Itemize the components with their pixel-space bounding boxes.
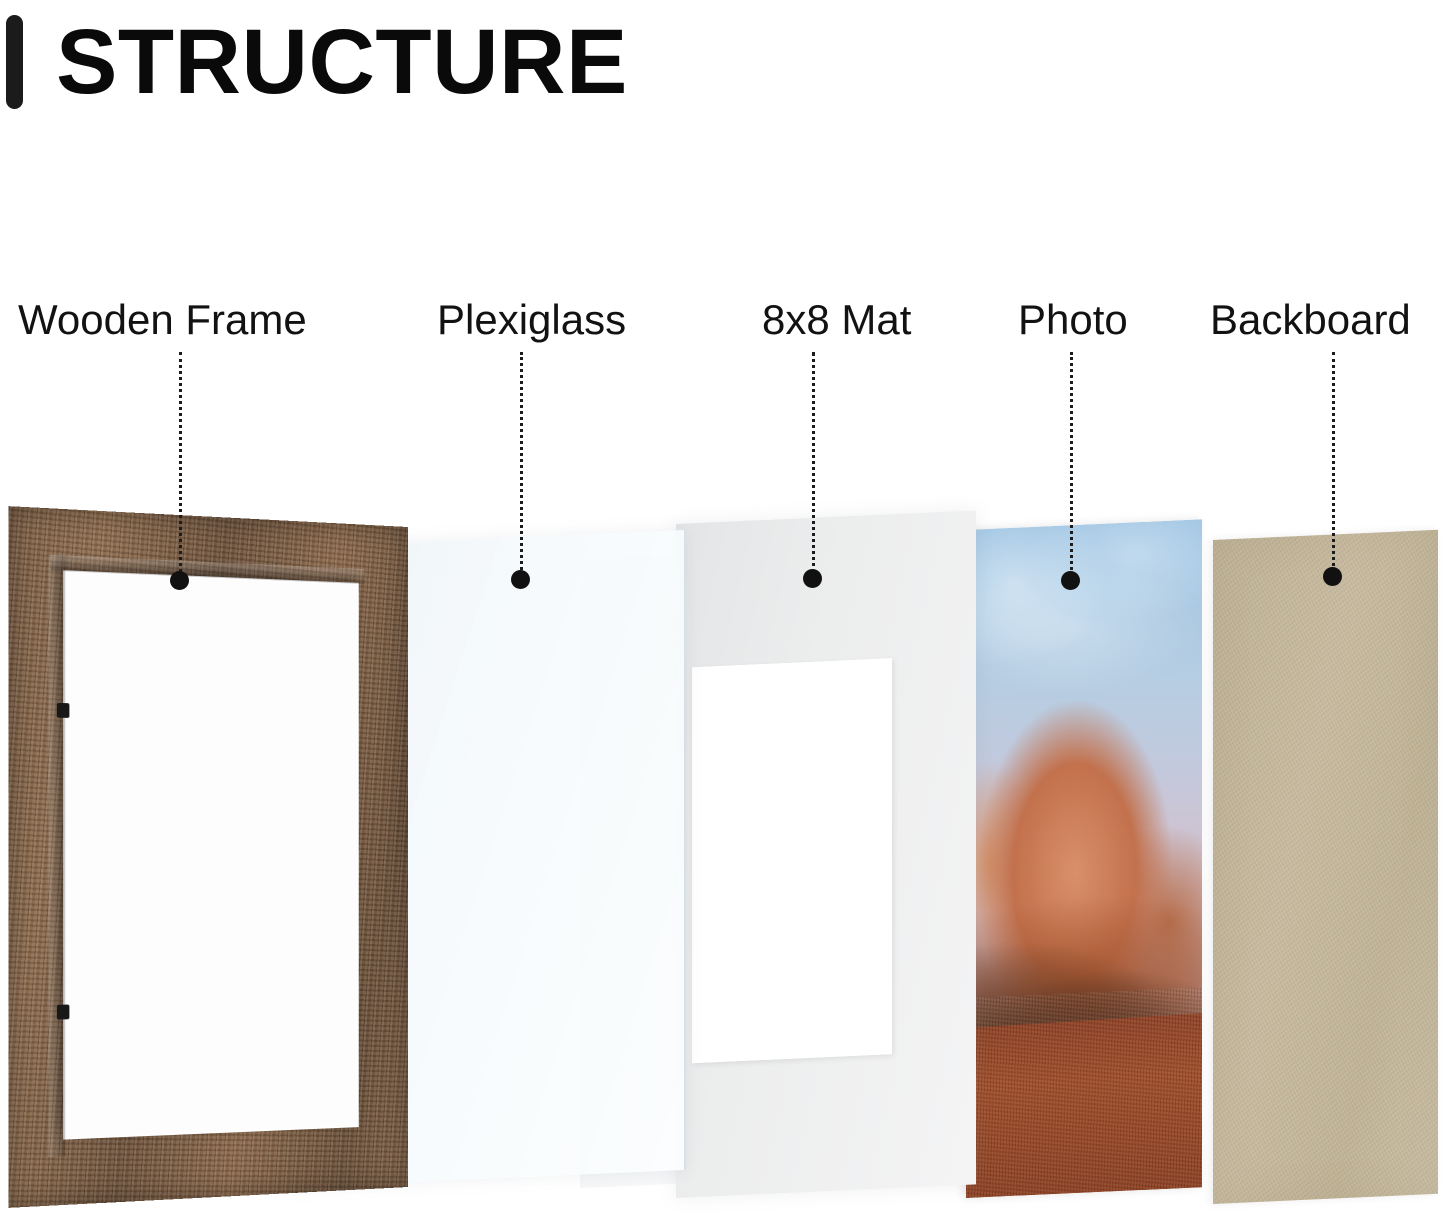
frame-inner-opening [63, 570, 359, 1139]
leader-dot-photo [1061, 571, 1080, 590]
mat-surface [676, 510, 976, 1198]
frame-bevel-left [48, 555, 65, 1157]
page-title-row: STRUCTURE [0, 14, 628, 110]
photo-foreground-gravel [966, 987, 1202, 1198]
leader-line-wooden-frame [179, 352, 182, 578]
callout-label-mat: 8x8 Mat [762, 298, 911, 342]
layer-photo [966, 530, 1202, 1198]
photo-clouds [966, 519, 1202, 837]
callout-label-backboard: Backboard [1210, 298, 1411, 342]
leader-line-plexiglass [520, 352, 523, 576]
backboard-surface [1213, 530, 1438, 1204]
layer-wooden-frame [8, 506, 408, 1208]
leader-dot-wooden-frame [170, 571, 189, 590]
photo-surface [966, 519, 1202, 1198]
leader-dot-backboard [1323, 567, 1342, 586]
leader-dot-plexiglass [511, 570, 530, 589]
title-accent-bar [6, 15, 23, 109]
leader-line-mat [812, 352, 815, 574]
page-title: STRUCTURE [56, 16, 628, 108]
leader-dot-mat [803, 569, 822, 588]
layer-mat [676, 524, 976, 1198]
frame-clip-upper [57, 703, 70, 718]
frame-clip-lower [57, 1005, 70, 1020]
structure-infographic: STRUCTURE Wooden Frame [0, 0, 1445, 1221]
callout-label-wooden-frame: Wooden Frame [18, 298, 307, 342]
leader-line-backboard [1332, 352, 1335, 572]
mat-window-opening [692, 658, 892, 1063]
callout-label-photo: Photo [1018, 298, 1128, 342]
callout-label-plexiglass: Plexiglass [437, 298, 626, 342]
leader-line-photo [1070, 352, 1073, 576]
layer-backboard [1213, 540, 1438, 1204]
